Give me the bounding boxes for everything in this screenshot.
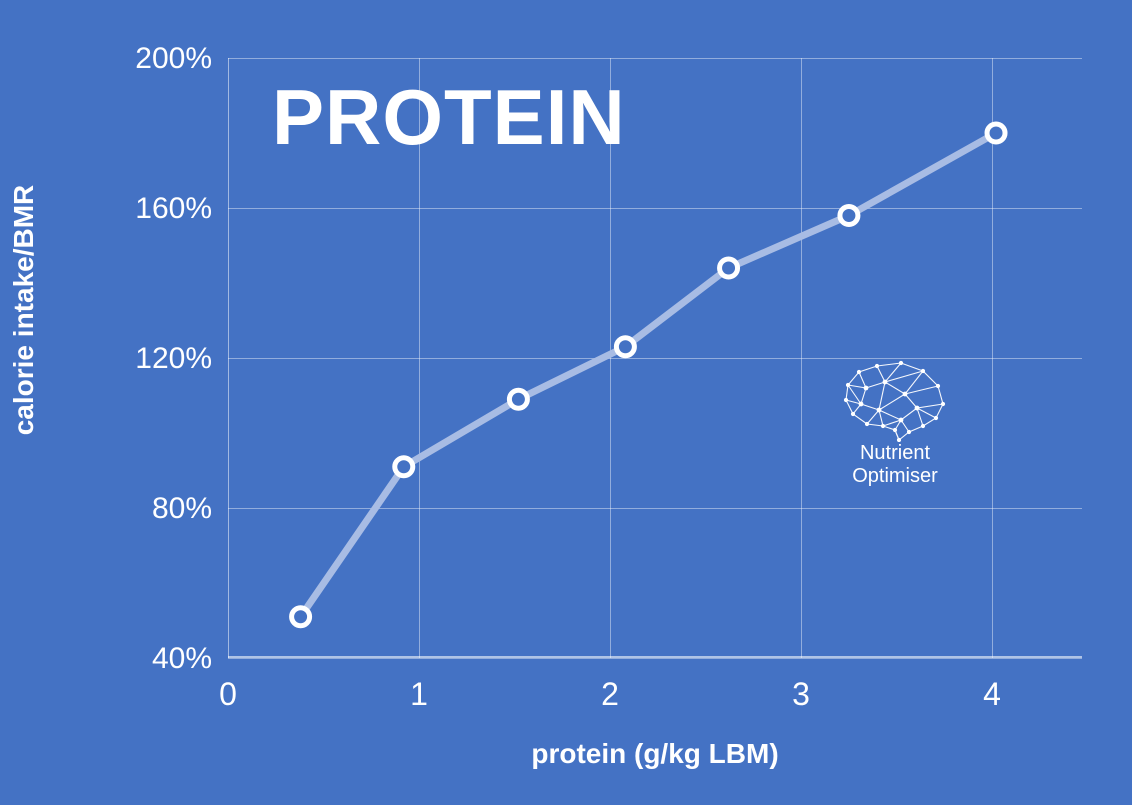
data-point-3	[616, 338, 634, 356]
x-axis-tick-4: 4	[983, 676, 1001, 713]
data-point-4	[720, 259, 738, 277]
x-axis-tick-1: 1	[410, 676, 428, 713]
data-point-5	[840, 207, 858, 225]
watermark-line-2: Optimiser	[833, 465, 957, 488]
series-line-chart	[228, 58, 1082, 658]
y-axis-title: calorie intake/BMR	[8, 120, 40, 500]
plot-area	[228, 58, 1082, 658]
y-axis-tick-200: 200%	[0, 42, 212, 76]
data-point-0	[292, 608, 310, 626]
brain-network-icon	[839, 360, 951, 442]
data-point-2	[509, 390, 527, 408]
x-axis-title: protein (g/kg LBM)	[228, 738, 1082, 770]
y-axis-tick-40: 40%	[0, 642, 212, 676]
watermark-logo: Nutrient Optimiser	[833, 360, 957, 488]
watermark-line-1: Nutrient	[833, 442, 957, 465]
data-point-1	[395, 458, 413, 476]
data-point-6	[987, 124, 1005, 142]
x-axis-tick-2: 2	[601, 676, 619, 713]
x-axis-tick-3: 3	[792, 676, 810, 713]
gridline-horizontal	[228, 658, 1082, 659]
chart-page: 200% 160% 120% 80% 40% 0 1 2 3 4 calorie…	[0, 0, 1132, 805]
x-axis-tick-0: 0	[219, 676, 237, 713]
